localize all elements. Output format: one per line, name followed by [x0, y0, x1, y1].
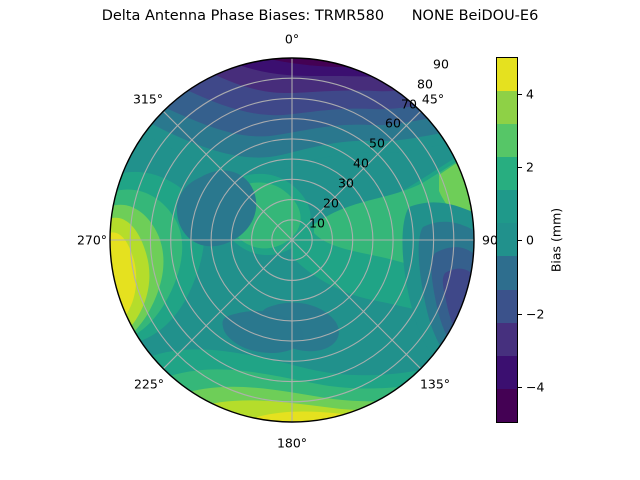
- colorbar-tick-label-m2: −2: [526, 306, 544, 321]
- theta-tick-0: 0°: [285, 32, 299, 47]
- r-tick-70: 70: [401, 97, 417, 112]
- colorbar-band-0-1: [497, 190, 517, 223]
- polar-contour-plot: [109, 57, 475, 423]
- colorbar-tick-mark-2: [518, 167, 522, 168]
- colorbar-tick-label-4: 4: [526, 86, 534, 101]
- polar-axes: 0° 45° 90 135° 180° 225° 270° 315° 10 20…: [109, 57, 475, 423]
- angular-gridlines: [110, 58, 474, 422]
- colorbar-tick-label-0: 0: [526, 233, 534, 248]
- colorbar-tick-mark-m2: [518, 314, 522, 315]
- colorbar-band-m4-m3: [497, 323, 517, 356]
- r-tick-40: 40: [353, 156, 369, 171]
- theta-tick-45: 45°: [422, 92, 444, 107]
- colorbar-band-1-2: [497, 157, 517, 190]
- colorbar-band-4-5: [497, 58, 517, 91]
- r-tick-90: 90: [433, 57, 449, 72]
- r-tick-10: 10: [309, 216, 325, 231]
- colorbar-axes: 4 2 0 −2 −4: [496, 57, 518, 423]
- colorbar-band-2-3: [497, 124, 517, 157]
- r-tick-60: 60: [385, 116, 401, 131]
- colorbar-tick-mark-m4: [518, 387, 522, 388]
- colorbar-tick-label-2: 2: [526, 159, 534, 174]
- r-tick-80: 80: [417, 77, 433, 92]
- colorbar-axis-label: Bias (mm): [549, 208, 564, 272]
- colorbar-band-m5-m4: [497, 356, 517, 389]
- theta-tick-135: 135°: [420, 377, 450, 392]
- colorbar-tick-mark-4: [518, 94, 522, 95]
- theta-tick-180: 180°: [277, 436, 307, 451]
- colorbar-band-3-4: [497, 91, 517, 124]
- r-tick-20: 20: [323, 196, 339, 211]
- r-tick-50: 50: [369, 136, 385, 151]
- colorbar-band-m6-m5: [497, 389, 517, 422]
- colorbar-gradient: [496, 57, 518, 423]
- r-tick-30: 30: [338, 176, 354, 191]
- colorbar-tick-label-m4: −4: [526, 379, 544, 394]
- colorbar-band-m1-0: [497, 223, 517, 256]
- theta-tick-270: 270°: [77, 233, 107, 248]
- theta-tick-315: 315°: [133, 92, 163, 107]
- colorbar-band-m3-m2: [497, 290, 517, 323]
- colorbar-band-m2-m1: [497, 256, 517, 289]
- theta-tick-225: 225°: [134, 377, 164, 392]
- matplotlib-figure: Delta Antenna Phase Biases: TRMR580 NONE…: [0, 0, 640, 480]
- colorbar-tick-mark-0: [518, 240, 522, 241]
- figure-title: Delta Antenna Phase Biases: TRMR580 NONE…: [0, 8, 640, 24]
